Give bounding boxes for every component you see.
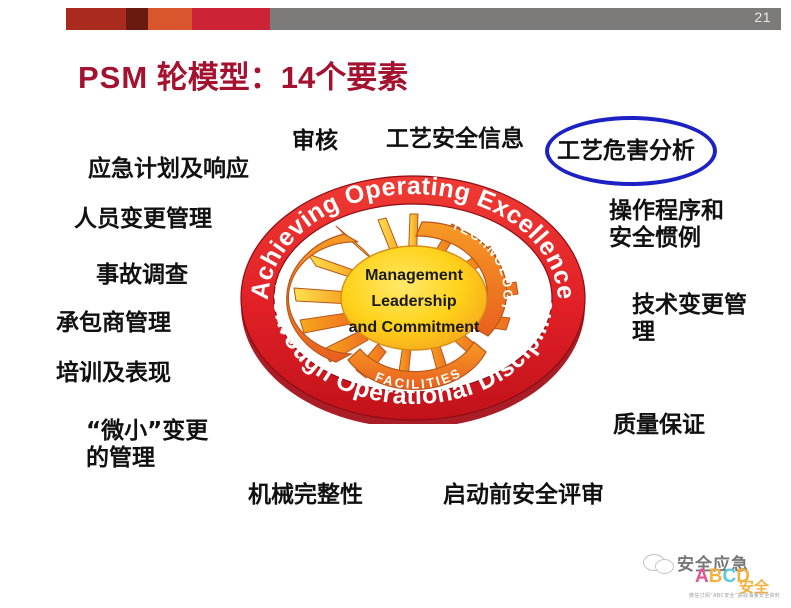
wheel-hub-line-1: Management bbox=[365, 267, 463, 284]
element-label-technology-change[interactable]: 技术变更管 理 bbox=[632, 292, 747, 346]
element-label-mechanical-integrity[interactable]: 机械完整性 bbox=[248, 482, 363, 509]
watermark-tagline: 微信订阅“ABC安全”获取海量安全资料 bbox=[689, 592, 780, 599]
slide-canvas: 21 PSM 轮模型：14个要素 bbox=[0, 0, 791, 608]
element-label-prestartup-safety-review[interactable]: 启动前安全评审 bbox=[443, 482, 604, 509]
header-bar: 21 bbox=[66, 8, 781, 30]
watermark-letter-b: B bbox=[709, 566, 723, 587]
element-label-quality-assurance[interactable]: 质量保证 bbox=[613, 412, 705, 439]
element-label-training-performance[interactable]: 培训及表现 bbox=[56, 360, 171, 387]
element-label-personnel-change[interactable]: 人员变更管理 bbox=[74, 206, 212, 233]
header-segment-4 bbox=[192, 8, 270, 30]
element-label-contractor-management[interactable]: 承包商管理 bbox=[56, 310, 171, 337]
element-label-process-hazard-analysis[interactable]: 工艺危害分析 bbox=[557, 138, 695, 165]
element-label-emergency-planning[interactable]: 应急计划及响应 bbox=[88, 156, 249, 183]
header-segment-2 bbox=[126, 8, 148, 30]
element-label-process-safety-info[interactable]: 工艺安全信息 bbox=[386, 126, 524, 153]
element-label-operating-procedures[interactable]: 操作程序和 安全惯例 bbox=[609, 198, 724, 252]
header-segment-3 bbox=[148, 8, 192, 30]
element-label-incident-investigation[interactable]: 事故调查 bbox=[96, 262, 188, 289]
wheel-hub-line-3: and Commitment bbox=[349, 319, 480, 336]
header-segment-1 bbox=[66, 8, 126, 30]
page-number: 21 bbox=[754, 9, 771, 25]
page-title-prefix: PSM bbox=[78, 60, 148, 95]
wechat-icon bbox=[643, 552, 673, 574]
header-segment-5: 21 bbox=[270, 8, 781, 30]
watermark-letter-c: C bbox=[722, 566, 736, 587]
element-label-audit[interactable]: 审核 bbox=[292, 128, 338, 155]
page-title: PSM 轮模型：14个要素 bbox=[78, 52, 408, 97]
watermark-letter-a: A bbox=[695, 566, 709, 587]
watermark: 安全应急 ABCD 安全 微信订阅“ABC安全”获取海量安全资料 bbox=[643, 550, 783, 604]
wheel-hub-line-2: Leadership bbox=[371, 293, 457, 310]
psm-wheel-graphic: Achieving Operating Excellence Through O… bbox=[238, 166, 588, 424]
element-label-minor-change-management[interactable]: “微小”变更 的管理 bbox=[86, 418, 208, 472]
page-title-rest: 轮模型：14个要素 bbox=[148, 60, 408, 95]
